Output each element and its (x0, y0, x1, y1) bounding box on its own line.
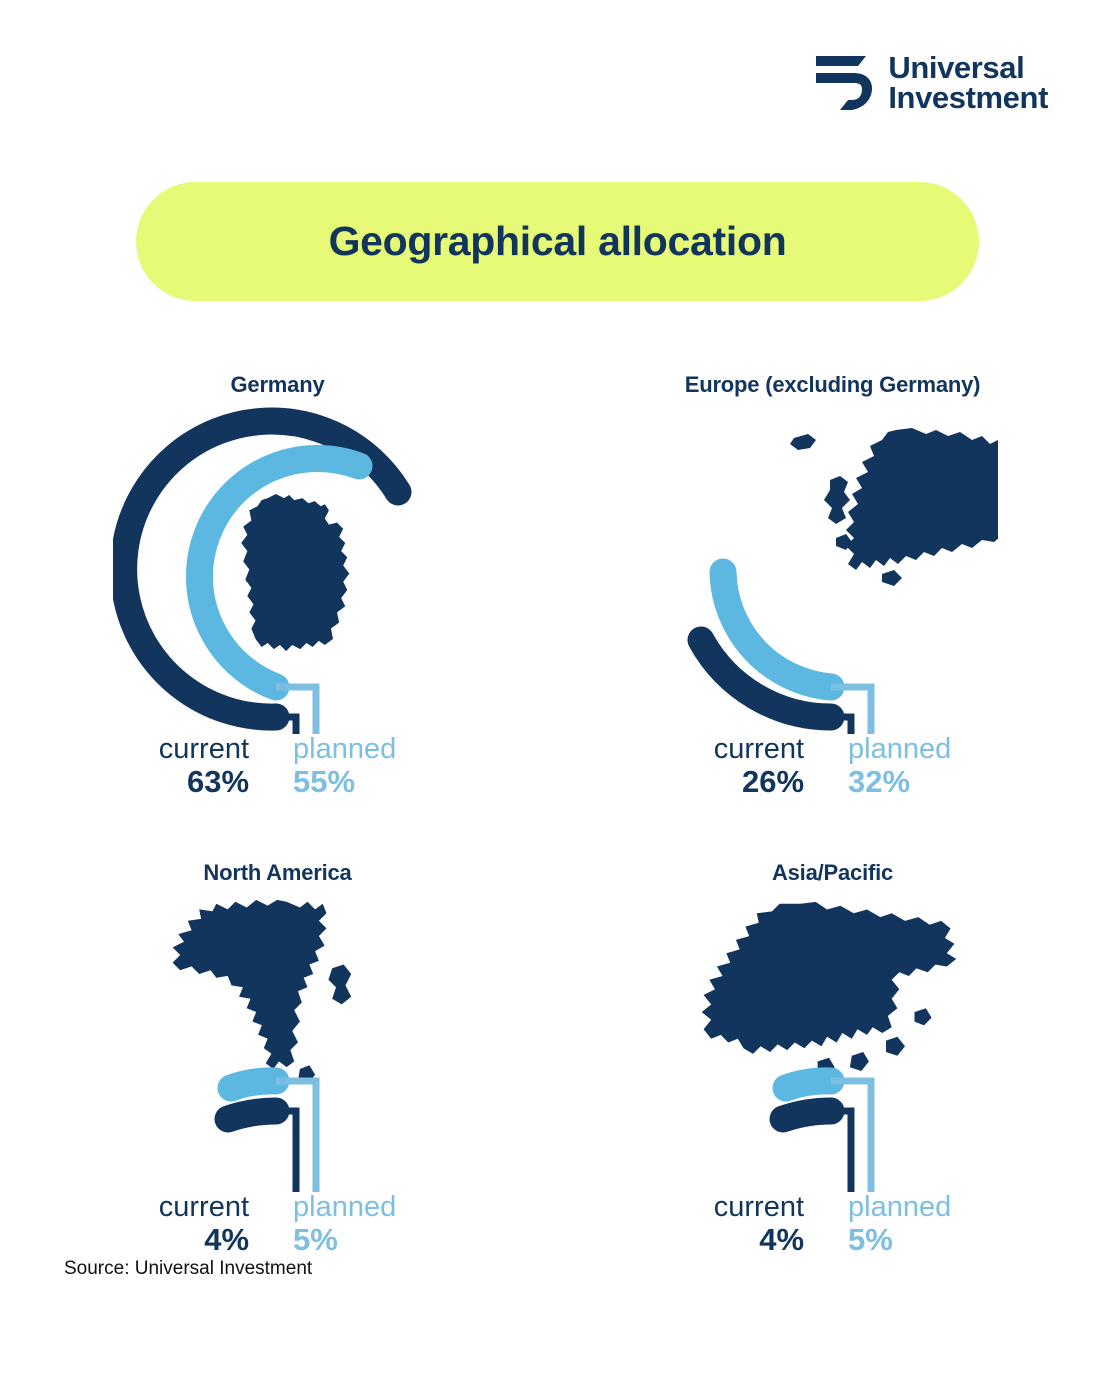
legend-germany: current 63% planned 55% (159, 734, 396, 798)
arc-current-asia-pacific (783, 1111, 831, 1119)
page-title: Geographical allocation (329, 218, 787, 265)
legend-planned-label: planned (848, 734, 951, 765)
panel-title-germany: Germany (231, 372, 325, 398)
legend-europe: current 26% planned 32% (714, 734, 951, 798)
panel-row-bottom: North America (0, 860, 1110, 1256)
panel-title-north-america: North America (203, 860, 351, 886)
legend-planned-asia-pacific: planned 5% (826, 1192, 951, 1256)
legend-planned-label: planned (293, 1192, 396, 1223)
panel-asia-pacific: Asia/Pacific (555, 860, 1110, 1256)
panels-grid: Germany current (0, 372, 1110, 1256)
legend-current-north-america: current 4% (159, 1192, 271, 1256)
gauge-figure-asia-pacific (668, 892, 998, 1192)
legend-current-germany: current 63% (159, 734, 271, 798)
legend-current-value: 63% (187, 765, 249, 798)
asia-pacific-map-icon (701, 902, 956, 1075)
legend-asia-pacific: current 4% planned 5% (714, 1192, 951, 1256)
legend-planned-europe: planned 32% (826, 734, 951, 798)
legend-planned-value: 5% (293, 1223, 338, 1256)
source-note: Source: Universal Investment (64, 1258, 312, 1280)
arc-planned-asia-pacific (786, 1081, 831, 1088)
gauge-figure-germany (113, 404, 443, 734)
gauge-figure-north-america (113, 892, 443, 1192)
brand-wordmark: Universal Investment (888, 53, 1048, 113)
germany-map-icon (241, 494, 349, 651)
legend-planned-label: planned (848, 1192, 951, 1223)
legend-current-value: 4% (759, 1223, 804, 1256)
panel-north-america: North America (0, 860, 555, 1256)
legend-north-america: current 4% planned 5% (159, 1192, 396, 1256)
panel-title-asia-pacific: Asia/Pacific (772, 860, 893, 886)
europe-map-icon (790, 428, 998, 586)
arc-planned-north-america (231, 1081, 276, 1088)
legend-current-label: current (714, 1192, 804, 1223)
legend-current-label: current (159, 734, 249, 765)
brand-line-2: Investment (888, 83, 1048, 113)
arc-current-north-america (228, 1111, 276, 1119)
legend-planned-value: 55% (293, 765, 355, 798)
panel-europe: Europe (excluding Germany) (555, 372, 1110, 798)
legend-current-label: current (714, 734, 804, 765)
gauge-figure-europe (668, 404, 998, 734)
legend-current-asia-pacific: current 4% (714, 1192, 826, 1256)
legend-planned-label: planned (293, 734, 396, 765)
panel-germany: Germany current (0, 372, 555, 798)
legend-current-label: current (159, 1192, 249, 1223)
panel-title-europe: Europe (excluding Germany) (685, 372, 981, 398)
legend-current-value: 4% (204, 1223, 249, 1256)
brand-line-1: Universal (888, 53, 1048, 83)
legend-current-europe: current 26% (714, 734, 826, 798)
legend-current-value: 26% (742, 765, 804, 798)
title-banner: Geographical allocation (136, 182, 979, 301)
panel-row-top: Germany current (0, 372, 1110, 798)
legend-planned-north-america: planned 5% (271, 1192, 396, 1256)
legend-planned-germany: planned 55% (271, 734, 396, 798)
legend-planned-value: 5% (848, 1223, 893, 1256)
legend-planned-value: 32% (848, 765, 910, 798)
north-america-map-icon (172, 900, 351, 1084)
brand-logo: Universal Investment (814, 52, 1048, 114)
universal-investment-logo-mark-icon (814, 52, 874, 114)
